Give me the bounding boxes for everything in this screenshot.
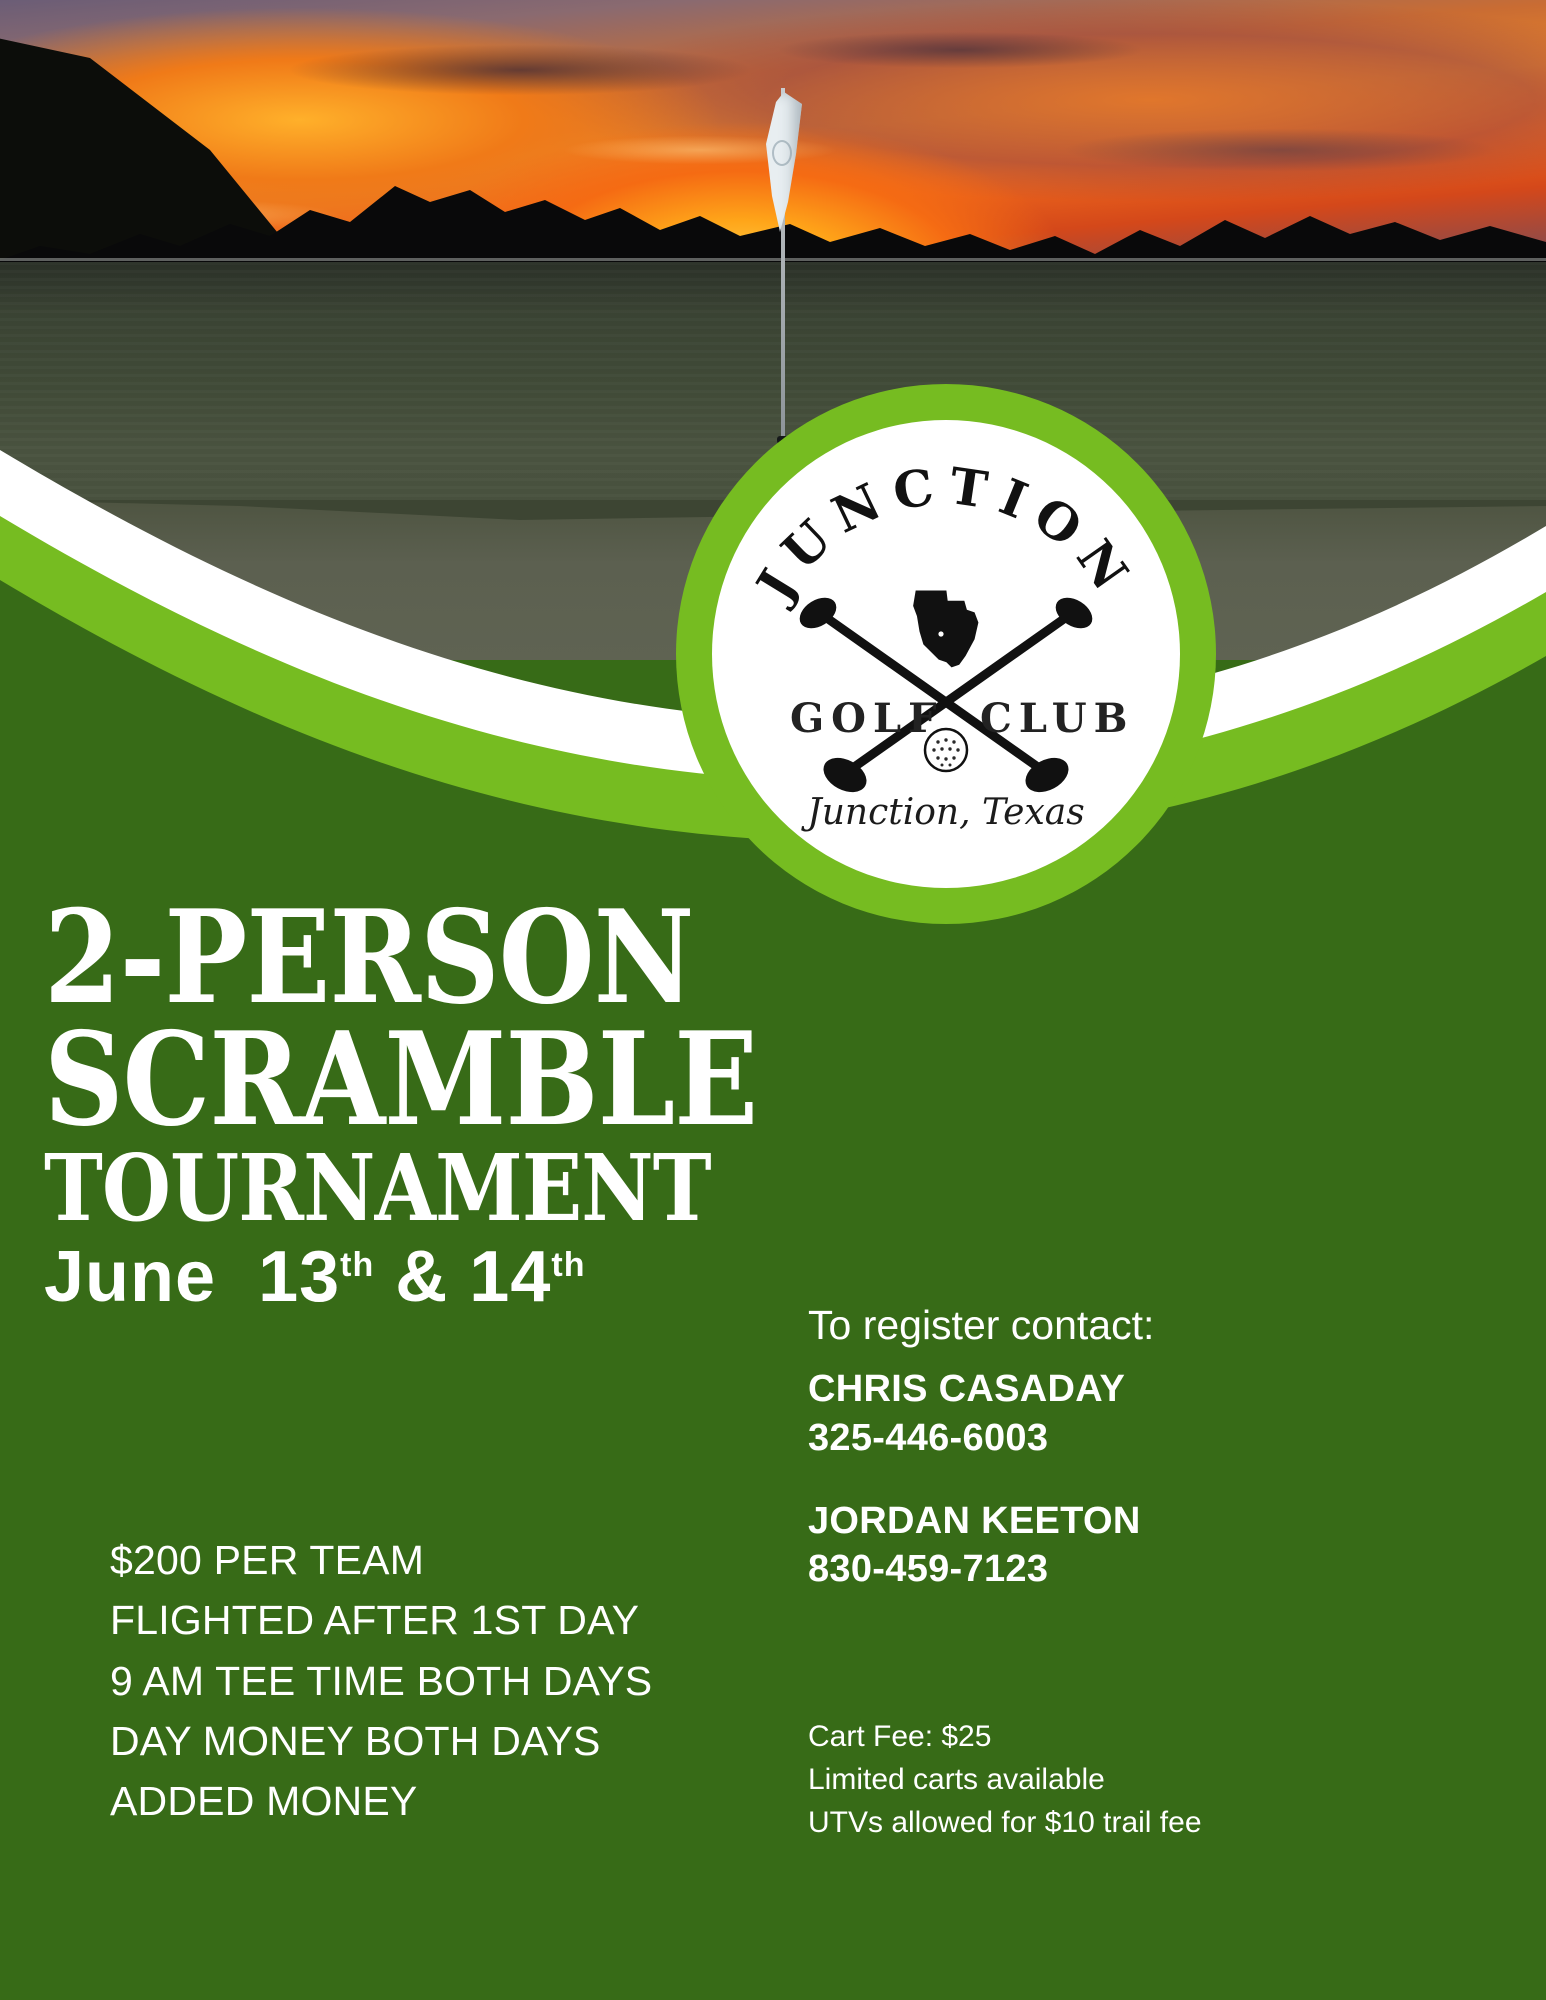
svg-text:Junction, Texas: Junction, Texas — [800, 792, 1084, 833]
contact-name: JORDAN KEETON — [808, 1497, 1328, 1546]
note-item: UTVs allowed for $10 trail fee — [808, 1801, 1368, 1844]
date-day-1: 13 — [258, 1237, 340, 1317]
detail-item: 9 AM TEE TIME BOTH DAYS — [110, 1651, 750, 1711]
contact-phone[interactable]: 830-459-7123 — [808, 1545, 1328, 1594]
contact-name: CHRIS CASADAY — [808, 1365, 1328, 1414]
date-day-2: 14 — [469, 1237, 551, 1317]
flyer-poster: JUNCTION — [0, 0, 1546, 2000]
cart-notes-block: Cart Fee: $25 Limited carts available UT… — [808, 1715, 1368, 1845]
detail-item: DAY MONEY BOTH DAYS — [110, 1711, 750, 1771]
date-day-1-suffix: th — [340, 1246, 374, 1284]
note-item: Limited carts available — [808, 1758, 1368, 1801]
contact-block: To register contact: CHRIS CASADAY 325-4… — [808, 1300, 1328, 1594]
horizon-line — [0, 258, 1546, 261]
svg-text:JUNCTION: JUNCTION — [743, 456, 1147, 614]
svg-text:CLUB: CLUB — [980, 695, 1134, 742]
headline-line-2: SCRAMBLE — [44, 1022, 663, 1140]
flag-emblem-icon — [772, 140, 792, 166]
date-day-2-suffix: th — [551, 1246, 585, 1284]
event-date: June 13th & 14th — [44, 1236, 764, 1318]
date-separator: & — [395, 1237, 448, 1317]
logo-emblem: JUNCTION — [712, 420, 1180, 888]
date-month: June — [44, 1237, 216, 1317]
contact-phone[interactable]: 325-446-6003 — [808, 1414, 1328, 1463]
contact-heading: To register contact: — [808, 1300, 1328, 1351]
svg-text:GOLF: GOLF — [790, 695, 944, 742]
headline-line-1: 2-PERSON — [44, 900, 663, 1018]
detail-item: ADDED MONEY — [110, 1771, 750, 1831]
note-item: Cart Fee: $25 — [808, 1715, 1368, 1758]
detail-item: $200 PER TEAM — [110, 1530, 750, 1590]
headline-block: 2-PERSON SCRAMBLE TOURNAMENT June 13th &… — [44, 900, 764, 1318]
headline-line-3: TOURNAMENT — [44, 1146, 663, 1231]
tournament-details-list: $200 PER TEAM FLIGHTED AFTER 1ST DAY 9 A… — [110, 1530, 750, 1831]
detail-item: FLIGHTED AFTER 1ST DAY — [110, 1590, 750, 1650]
junction-golf-club-logo: JUNCTION — [676, 384, 1216, 924]
